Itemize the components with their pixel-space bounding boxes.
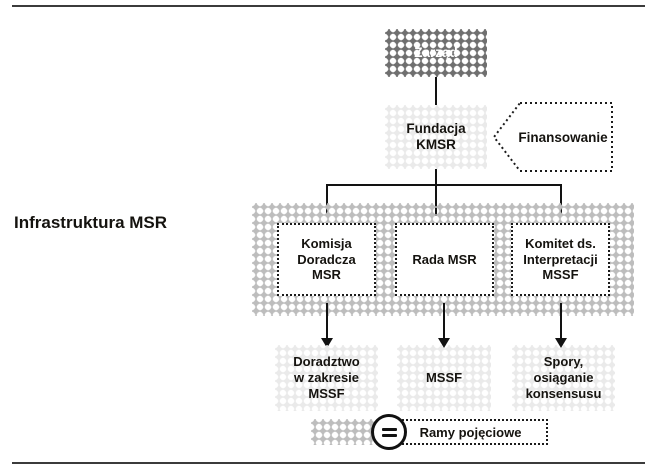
connector-advisory-to-output [326, 303, 328, 340]
foundation-box: Fundacja KMSR [385, 105, 487, 169]
infrastructure-title: Infrastruktura MSR [14, 213, 167, 233]
board-box: Zarząd [385, 29, 487, 77]
funding-callout-label: Finansowanie [518, 101, 608, 173]
equals-icon [371, 414, 407, 450]
infra-box-advisory-commission-label: Komisja Doradcza MSR [297, 236, 356, 284]
bottom-divider-rule [12, 462, 645, 464]
output-box-disputes: Spory, osiąganie konsensusu [512, 345, 615, 411]
board-box-label: Zarząd [409, 45, 463, 61]
foundation-box-label: Fundacja KMSR [401, 121, 470, 154]
connector-board-to-foundation [435, 77, 437, 105]
diagram-canvas: Infrastruktura MSR Zarząd Fundacja KMSR … [0, 0, 657, 475]
infra-box-interpretations-committee-label: Komitet ds. Interpretacji MSSF [523, 236, 597, 284]
output-box-disputes-label: Spory, osiąganie konsensusu [521, 354, 607, 402]
infra-box-interpretations-committee: Komitet ds. Interpretacji MSSF [511, 223, 610, 296]
top-divider-rule [12, 5, 645, 7]
legend-conceptual-framework-label: Ramy pojęciowe [420, 425, 522, 440]
connector-horizontal-bus [326, 184, 562, 186]
connector-committee-to-output [560, 303, 562, 340]
output-box-mssf: MSSF [397, 345, 491, 411]
equals-icon-bar-top [382, 428, 397, 431]
funding-callout: Finansowanie [492, 101, 614, 173]
output-box-advisory-label: Doradztwo w zakresie MSSF [288, 354, 364, 402]
infra-box-rada-msr: Rada MSR [395, 223, 494, 296]
infra-box-advisory-commission: Komisja Doradcza MSR [277, 223, 376, 296]
output-box-advisory: Doradztwo w zakresie MSSF [275, 345, 378, 411]
connector-rada-to-output [443, 303, 445, 340]
infra-box-rada-msr-label: Rada MSR [412, 252, 476, 268]
output-box-mssf-label: MSSF [421, 370, 467, 386]
legend-conceptual-framework: Ramy pojęciowe [393, 419, 548, 445]
connector-foundation-down [435, 169, 437, 185]
equals-icon-bar-bottom [382, 434, 397, 437]
